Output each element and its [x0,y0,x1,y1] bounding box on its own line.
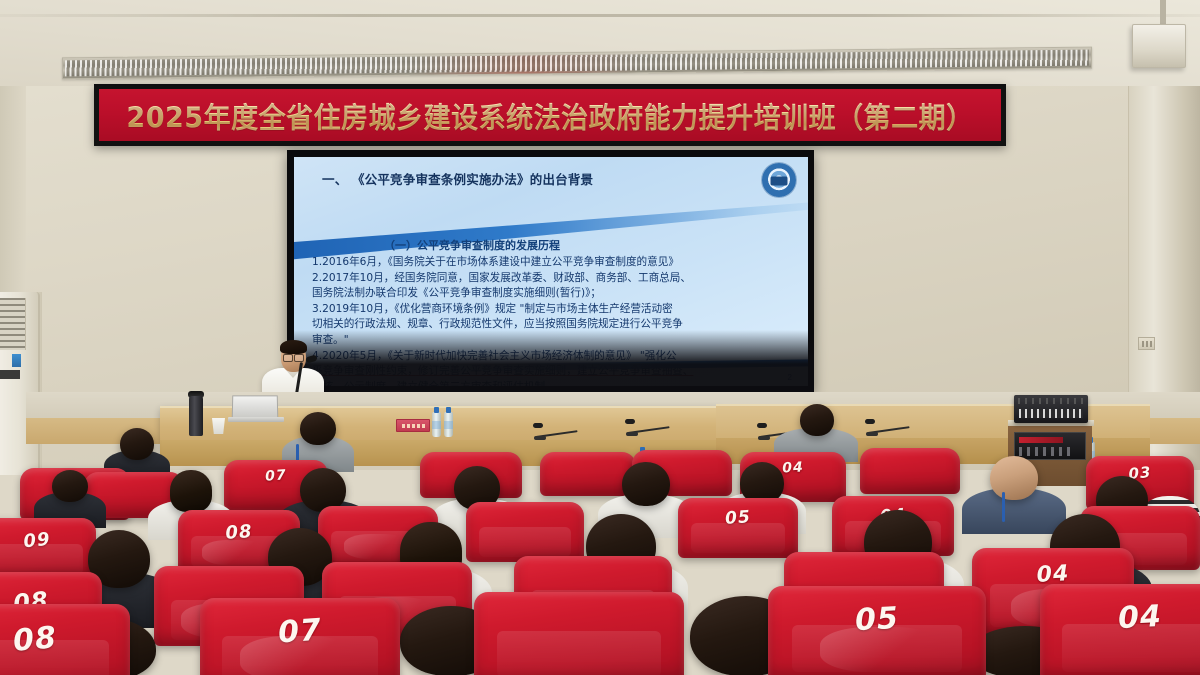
water-bottle-icon [444,412,453,437]
microphone-base [866,432,878,436]
seat [860,448,960,494]
wall-power-outlet-icon [1138,337,1155,350]
seat: 09 [0,518,96,580]
seat-number: 05 [677,504,798,532]
attendee-head [622,462,670,506]
seat: 07 [200,598,400,675]
slide-line-3: 国务院法制办联合印发《公平竞争审查制度实施细则(暂行)》； [312,286,796,302]
rack-equipment-icon [1014,432,1086,460]
seat: 04 [1040,584,1200,675]
seat-number: 08 [0,614,131,665]
paper-cup-icon [212,418,225,434]
seat-crease [240,636,356,675]
seat-crease [202,540,265,565]
attendee-head [800,404,834,436]
microphone-base [626,432,638,436]
ac-grille [0,298,26,350]
banner-title: 2025年度全省住房城乡建设系统法治政府能力提升培训班（第二期） [126,94,973,135]
slide-heading: 一、 《公平竞争审查条例实施办法》的出台背景 [322,169,794,188]
training-session-photo: 2025年度全省住房城乡建设系统法治政府能力提升培训班（第二期） 一、 《公平竞… [0,0,1200,675]
ceiling-seam [0,14,1200,17]
attendee-head [170,470,212,512]
event-banner: 2025年度全省住房城乡建设系统法治政府能力提升培训班（第二期） [94,84,1006,146]
ceiling-projector-icon [1132,24,1186,68]
seat-number: 05 [767,596,987,642]
slide-line-2: 2.2017年10月，经国务院同意，国家发展改革委、财政部、商务部、工商总局、 [312,271,796,287]
slide-line-1: 1.2016年6月，《国务院关于在市场体系建设中建立公平竞争审查制度的意见》 [312,255,796,271]
seat-crease [820,627,942,672]
microphone-base [758,436,770,440]
seat-number: 09 [0,524,97,557]
seat: 05 [678,498,798,558]
seat [466,502,584,562]
institution-emblem-icon [762,163,796,197]
slide-line-4: 3.2019年10月，《优化营商环境条例》规定 "制定与市场主体生产经营活动密 [312,302,796,318]
vent-reflection [413,54,639,74]
banner-inner: 2025年度全省住房城乡建设系统法治政府能力提升培训班（第二期） [99,89,1001,141]
seat-number: 07 [199,607,401,656]
thermos-icon [189,396,203,436]
seat: 08 [0,604,130,675]
seat-number: 04 [1039,595,1200,640]
laptop-icon [232,395,279,418]
projector-mount [1160,0,1166,26]
presenter-hair [280,340,307,354]
ac-control-panel [0,370,20,379]
eyeglasses-icon [283,354,304,360]
attendee-head [300,412,336,445]
seat [474,592,684,675]
lanyard-icon [1002,492,1005,522]
name-plate [396,419,430,432]
screen-lower-shadow [287,330,814,392]
attendee-head [52,470,88,502]
audio-mixer-icon [1014,395,1088,423]
laptop-base [228,417,284,422]
microphone-base [534,436,546,440]
slide-subheading: （一）公平竞争审查制度的发展历程 [384,237,560,253]
attendee-head [990,456,1038,500]
seat: 05 [768,586,986,675]
floor-air-conditioner-icon [0,292,40,475]
ac-badge [12,354,21,367]
water-bottle-icon [432,412,441,437]
attendee-head [120,428,154,460]
